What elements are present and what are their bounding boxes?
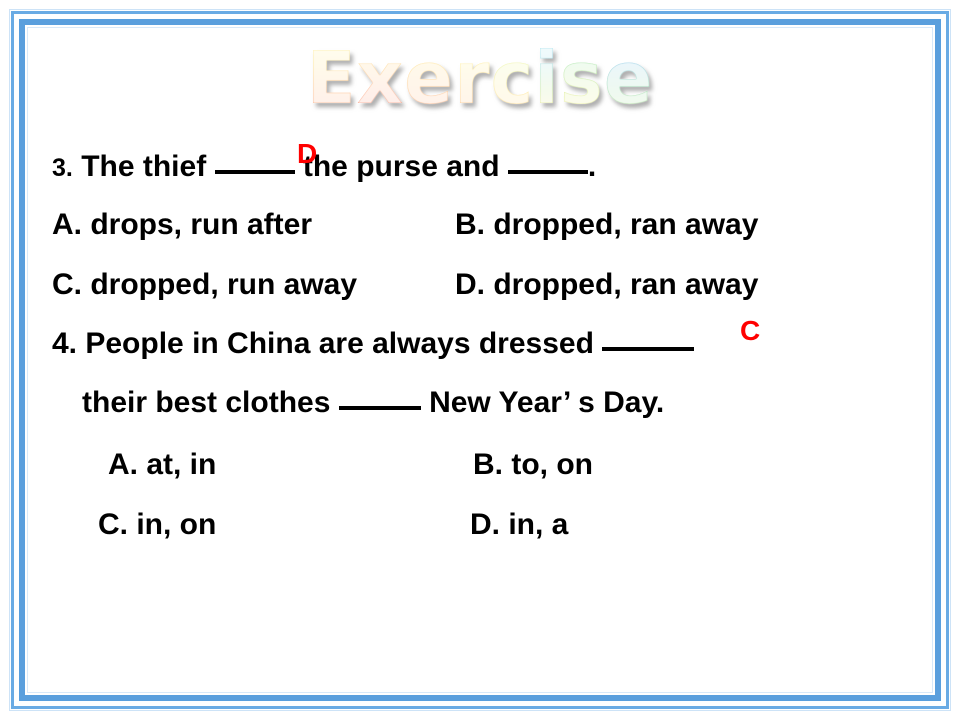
slide: Exercise 3. The thief the purse and . D … (0, 0, 960, 720)
title-letter-6: i (534, 42, 560, 114)
question-3-text-a: The thief (73, 150, 215, 183)
question-4-option-d[interactable]: D. in, a (470, 510, 568, 540)
question-4-option-b[interactable]: B. to, on (473, 450, 593, 480)
question-4-blank-2[interactable] (339, 406, 421, 410)
question-4-text-c: New Year’ s Day. (421, 386, 665, 419)
question-3-number: 3. (52, 154, 73, 182)
question-4-number: 4. (52, 327, 77, 360)
frame-halo-inner (27, 27, 933, 693)
question-3-text-b: the purse and (295, 150, 508, 183)
question-3-text-c: . (588, 150, 596, 183)
question-4-text-b: their best clothes (82, 386, 339, 419)
question-4-option-c[interactable]: C. in, on (98, 510, 216, 540)
question-4-blank-1[interactable] (602, 347, 694, 351)
question-3-stem: 3. The thief the purse and . (52, 152, 596, 182)
title-letter-5: c (490, 42, 534, 114)
title-letter-8: e (604, 42, 654, 114)
question-3-blank-1[interactable] (215, 170, 295, 174)
question-3-option-c[interactable]: C. dropped, run away (52, 270, 357, 300)
page-title: Exercise (306, 42, 653, 114)
question-4-written-answer: C (740, 317, 760, 345)
question-3-blank-2[interactable] (508, 170, 588, 174)
question-4-option-a[interactable]: A. at, in (108, 450, 216, 480)
question-3-option-b[interactable]: B. dropped, ran away (455, 210, 758, 240)
title-letter-3: e (404, 42, 454, 114)
question-3-option-d[interactable]: D. dropped, ran away (455, 270, 758, 300)
question-3-written-answer: D (297, 140, 317, 168)
question-3-option-a[interactable]: A. drops, run after (52, 210, 312, 240)
title-container: Exercise (0, 42, 960, 114)
title-letter-7: s (560, 42, 604, 114)
title-letter-2: x (357, 42, 404, 114)
question-4-stem-line-2: their best clothes New Year’ s Day. (82, 388, 664, 418)
title-letter-1: E (306, 42, 356, 114)
question-4-stem: 4. People in China are always dressed (52, 329, 694, 359)
title-letter-4: r (454, 42, 491, 114)
question-4-text-a: People in China are always dressed (77, 327, 602, 360)
